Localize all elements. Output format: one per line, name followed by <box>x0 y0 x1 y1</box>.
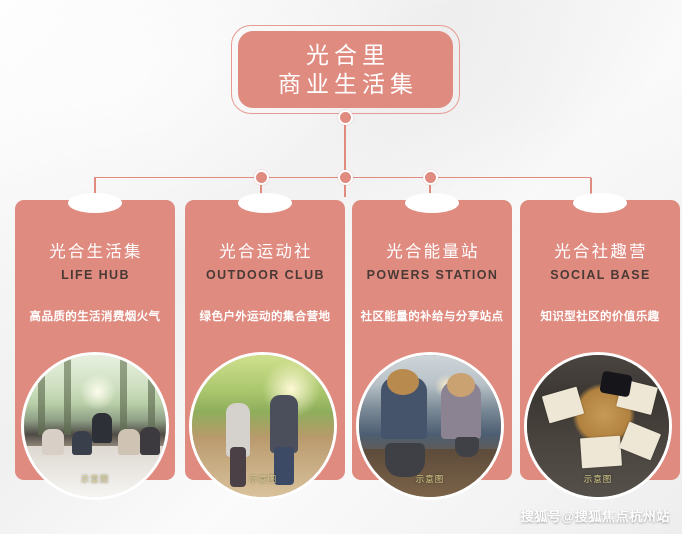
card-title-en: OUTDOOR CLUB <box>185 268 345 282</box>
photo-social-base: 示意图 <box>524 352 672 500</box>
node-branch-1 <box>254 170 269 185</box>
photo-caption: 示意图 <box>527 473 669 485</box>
card-description: 社区能量的补给与分享站点 <box>352 308 512 324</box>
photo-caption: 示意图 <box>24 473 166 485</box>
photo-powers-station: 示意图 <box>356 352 504 500</box>
card-title-cn: 光合运动社 <box>185 238 345 262</box>
card-title-cn: 光合社趣营 <box>520 238 680 262</box>
card-description: 高品质的生活消费烟火气 <box>15 308 175 324</box>
lamp-icon <box>573 193 627 213</box>
lamp-icon <box>405 193 459 213</box>
watermark: 搜狐号@搜狐焦点杭州站 <box>521 506 670 525</box>
card-title-cn: 光合能量站 <box>352 238 512 262</box>
node-branch-2 <box>338 170 353 185</box>
page-title: 光合里 商业生活集 <box>238 31 453 108</box>
infographic-canvas: 光合里 商业生活集 光合生活集 LIFE HUB 高品质的生活消费烟火气 光合运… <box>0 0 682 534</box>
card-title-en: POWERS STATION <box>352 268 512 282</box>
photo-life-hub: 示意图 <box>21 352 169 500</box>
lamp-icon <box>238 193 292 213</box>
title-line-2: 商业生活集 <box>273 71 418 97</box>
card-description: 知识型社区的价值乐趣 <box>520 308 680 324</box>
card-title-en: LIFE HUB <box>15 268 175 282</box>
node-branch-3 <box>423 170 438 185</box>
node-root <box>338 110 353 125</box>
photo-caption: 示意图 <box>192 473 334 485</box>
card-title-en: SOCIAL BASE <box>520 268 680 282</box>
photo-outdoor-club: 示意图 <box>189 352 337 500</box>
lamp-icon <box>68 193 122 213</box>
card-title-cn: 光合生活集 <box>15 238 175 262</box>
title-line-1: 光合里 <box>301 42 390 68</box>
card-description: 绿色户外运动的集合营地 <box>185 308 345 324</box>
photo-caption: 示意图 <box>359 473 501 485</box>
